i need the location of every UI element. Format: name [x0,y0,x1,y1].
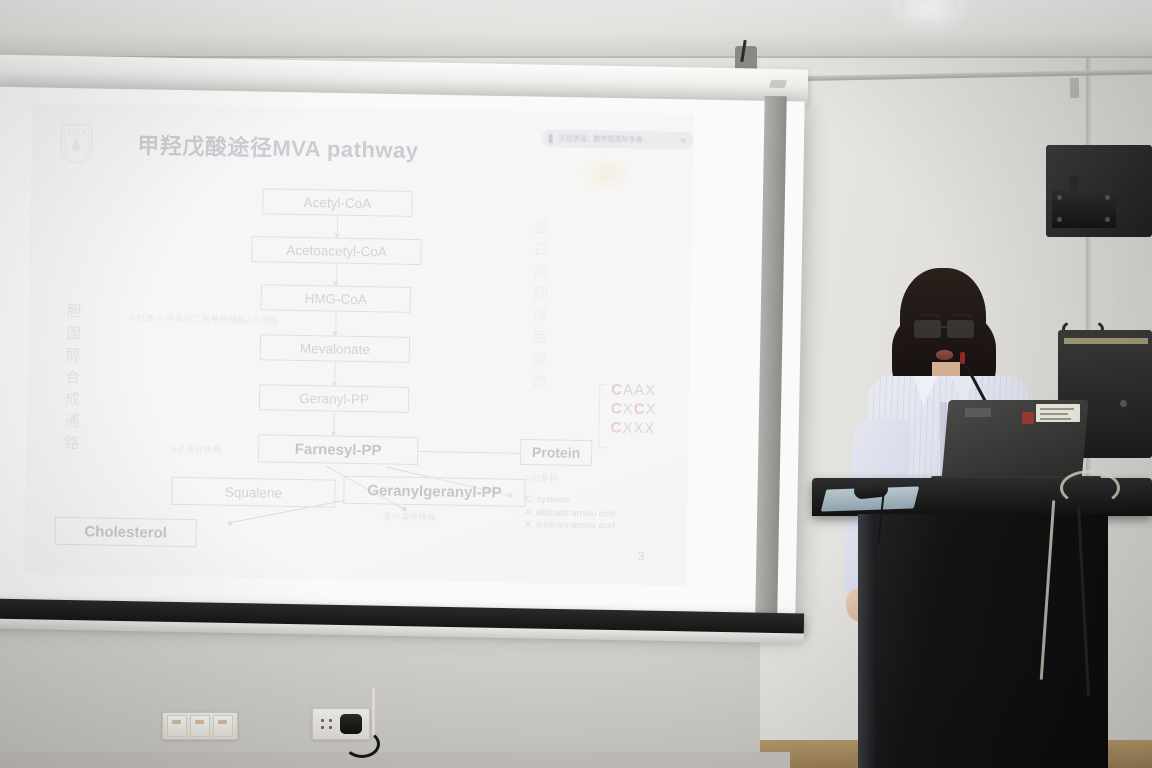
speaker-bracket [1052,190,1116,228]
farnesyl-enzyme-annotation: 法尼基转移酶 [168,443,222,456]
slide-title-cn: 甲羟戊酸途径 [137,133,272,160]
outlet-socket-1[interactable] [317,714,337,734]
mouth [936,350,953,360]
left-vertical-annotation: 胆固醇合成通路 [60,303,84,457]
line-farnesyl-to-protein [418,451,520,454]
antenna [372,688,375,734]
box-squalene: Squalene [171,477,335,508]
slide-title-en: MVA pathway [272,135,418,163]
amplifier-label-strip [1064,338,1148,344]
wall-base [0,752,790,768]
ceiling [0,0,1152,60]
light-switch-1[interactable] [167,715,187,737]
arrow-acetyl-to-acetoacetyl [337,216,338,238]
notification-text: 正在讲话：数字院高年学者… [559,133,674,145]
plug-cord [344,730,380,758]
hmg-enzyme-annotation: 3-羟基-3-甲基戊二酸单酰辅酶A还原酶 [128,312,279,327]
arrow-mevalonate-to-geranyl [334,362,335,386]
slide-title: 甲羟戊酸途径MVA pathway [137,128,419,165]
cable-coil [1060,470,1120,506]
speaking-notification-bar[interactable]: 正在讲话：数字院高年学者… ✕ [541,129,693,150]
rail-bracket [1070,78,1079,98]
box-hmg-coa: HMG-CoA [261,284,411,313]
geranylgeranyl-enzyme-annotation: 香叶基转移酶 [383,510,437,523]
light-switch-panel[interactable] [162,712,238,740]
glasses-icon [914,320,976,336]
microphone-clip [960,352,965,364]
motif-row-cxcx: CXCX [611,399,657,419]
box-cholesterol: Cholesterol [54,517,196,547]
slide-number: 3 [638,549,645,563]
right-vertical-annotation: 蛋白质翻译后修饰 [527,219,551,395]
podium-edge [858,514,876,768]
motif-rest-1: AAX [623,382,656,400]
protein-count-annotation: 100多种 [524,471,559,485]
legend-line-3: X: arbitrary amino acid [525,518,615,532]
amplifier-knob-icon[interactable] [1120,400,1127,407]
motif-legend: C: cysteine A: aliphatic amino acid X: a… [525,493,616,532]
arrow-acetoacetyl-to-hmg [336,264,337,286]
screen-brand-logo [769,80,788,88]
arrow-geranyl-to-farnesyl [333,412,334,436]
podium-body [858,514,1108,768]
motif-bracket [598,384,607,448]
laptop-asset-sticker [1036,404,1080,422]
lecture-hall-photo: 甲羟戊酸途径MVA pathway 正在讲话：数字院高年学者… ✕ 胆固醇合成通… [0,0,1152,768]
close-icon[interactable]: ✕ [680,136,687,145]
box-protein: Protein [520,439,592,466]
box-farnesyl-pp: Farnesyl-PP [258,434,418,465]
box-acetyl-coa: Acetyl-CoA [262,188,412,217]
light-switch-3[interactable] [213,715,233,737]
motif-row-cxxx: CXXX [610,418,656,438]
projected-slide: 甲羟戊酸途径MVA pathway 正在讲话：数字院高年学者… ✕ 胆固醇合成通… [24,102,694,585]
motif-rest-3: XXX [622,420,655,438]
laptop-brand-logo [965,408,991,417]
box-geranyl-pp: Geranyl-PP [259,384,409,413]
university-crest-icon [59,123,94,166]
arrow-hmg-to-mevalonate [335,312,336,336]
box-geranylgeranyl-pp: Geranylgeranyl-PP [343,476,525,507]
microphone-icon [549,134,553,143]
box-acetoacetyl-coa: Acetoacetyl-CoA [251,236,421,265]
laptop-red-accent [1022,412,1034,424]
light-switch-2[interactable] [190,715,210,737]
motif-row-caax: CAAX [611,380,657,400]
motif-list: CAAX CXCX CXXX [610,380,657,438]
legend-line-1: C: cysteine [525,493,615,507]
projector-glare [571,152,642,197]
box-mevalonate: Mevalonate [260,334,410,363]
